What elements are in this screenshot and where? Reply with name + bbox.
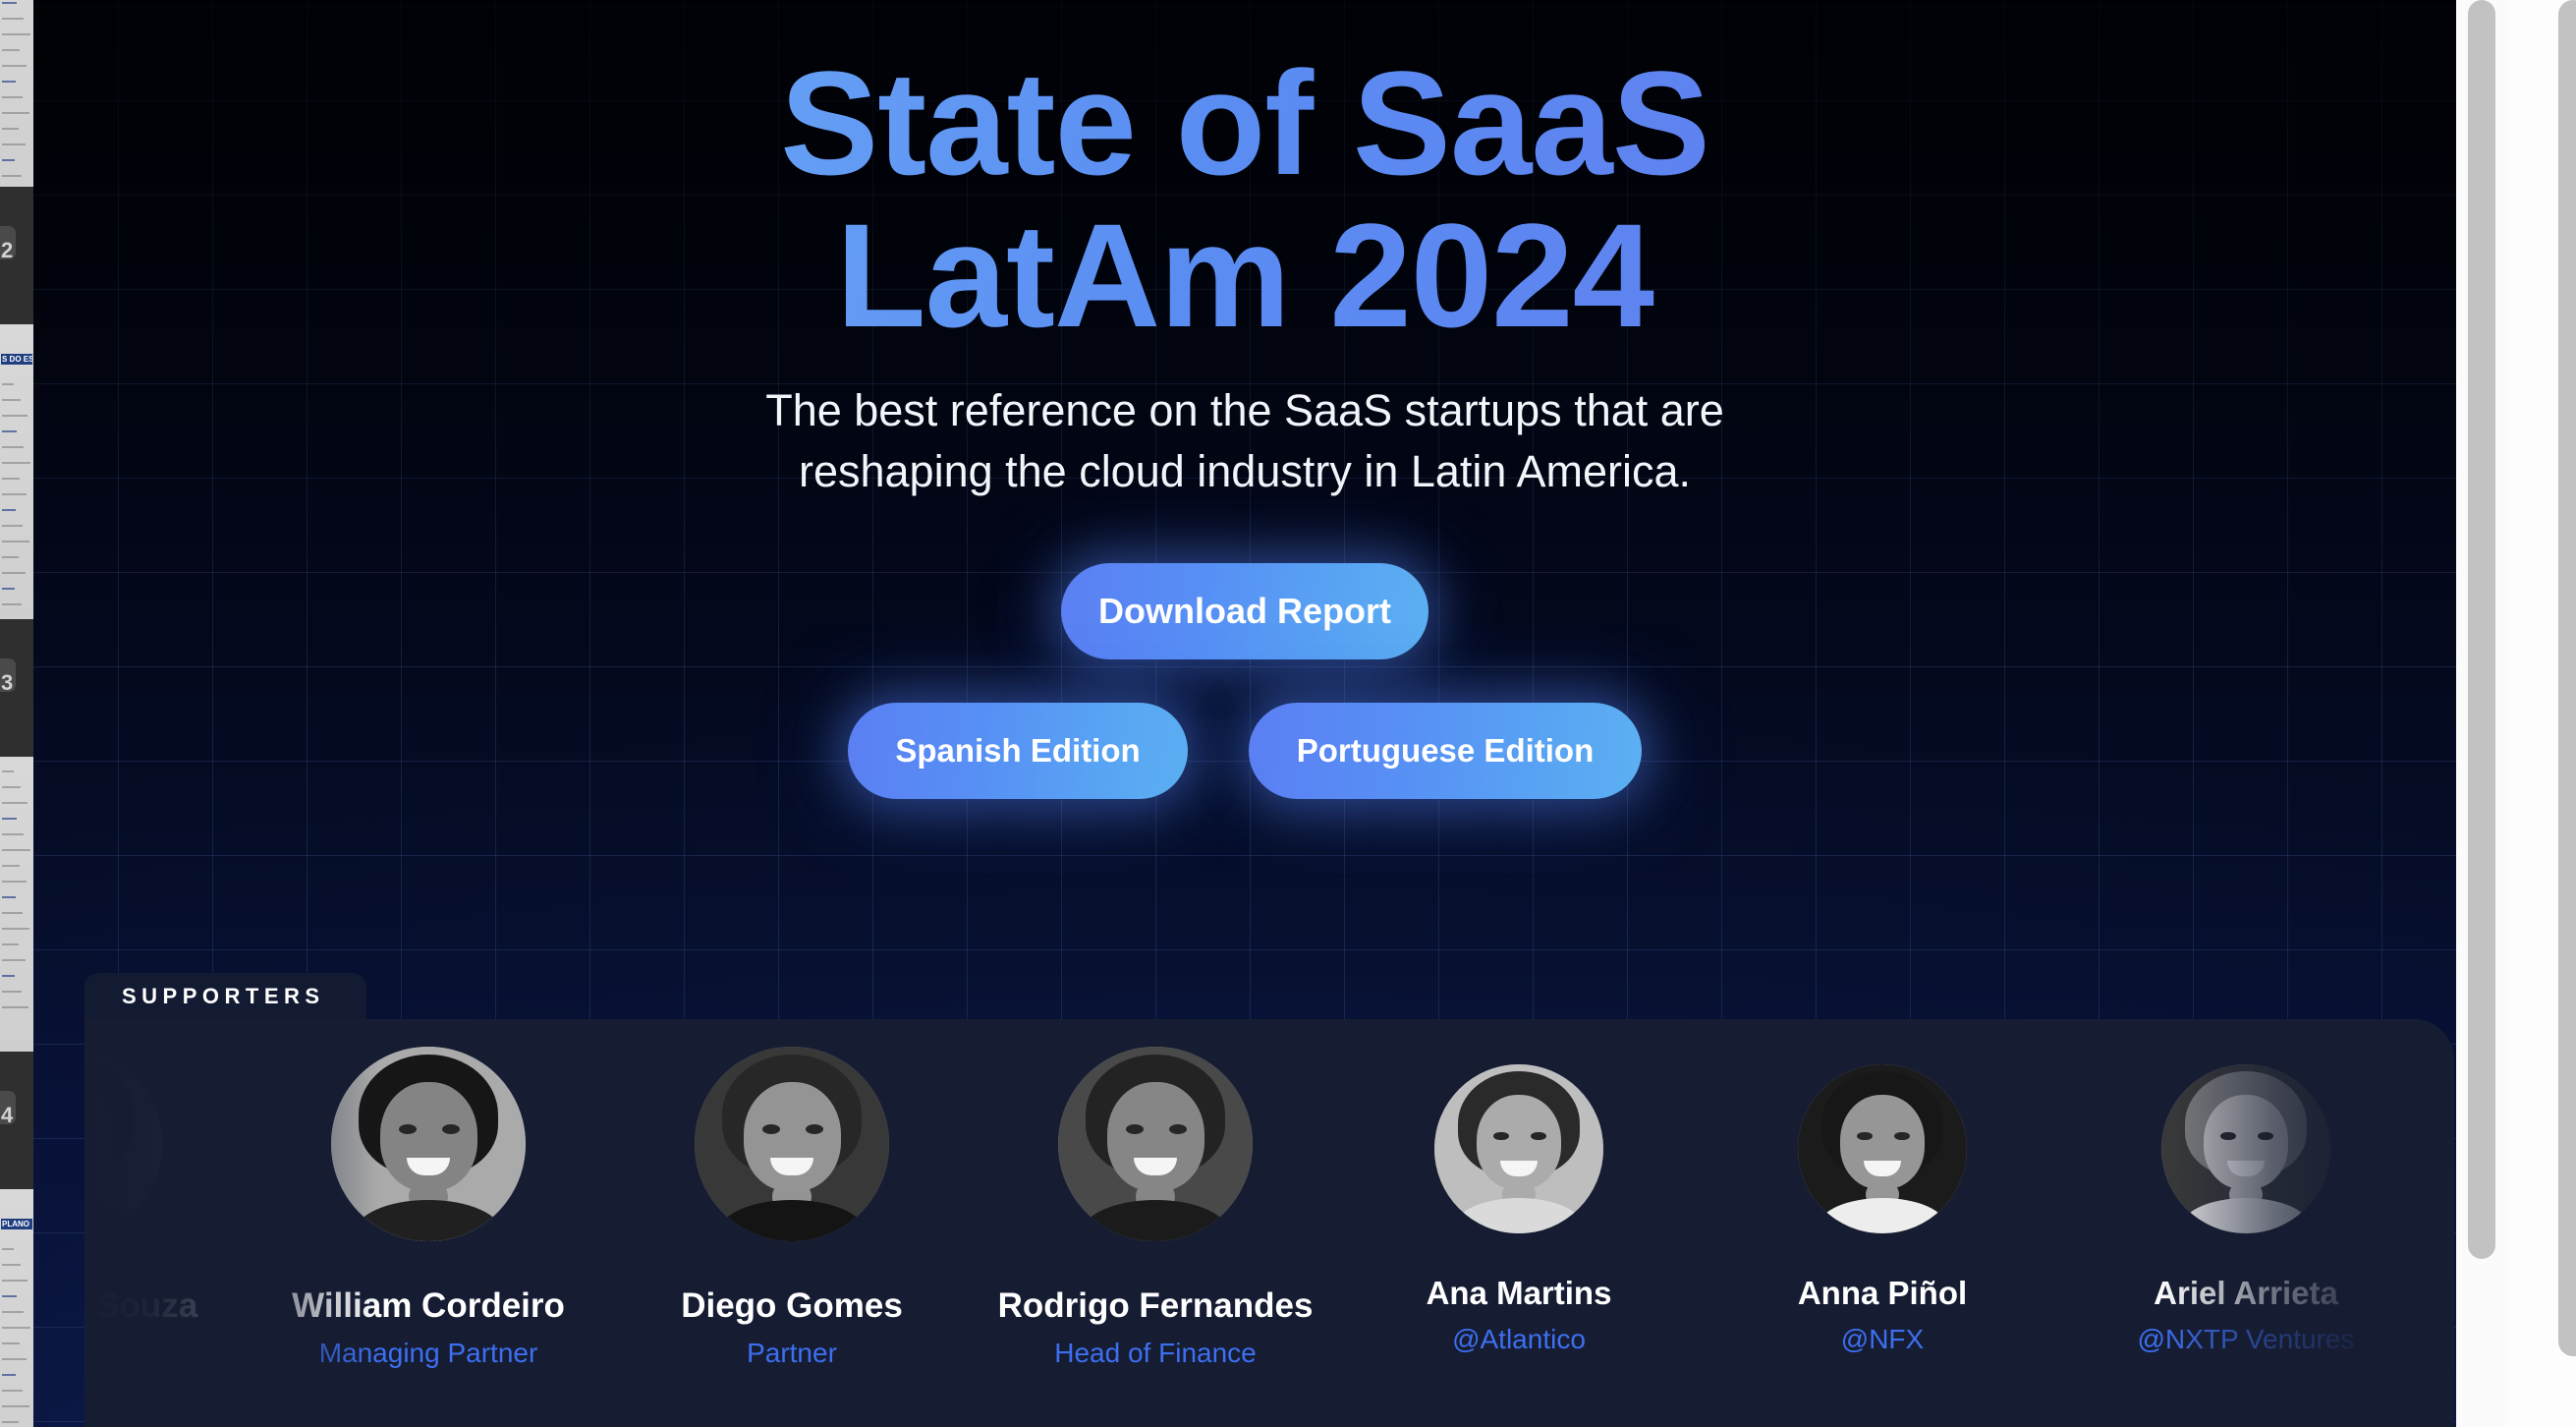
document-text-line — [2, 1421, 19, 1423]
document-text-line — [2, 588, 15, 590]
document-text-line — [2, 175, 22, 177]
supporter-name: Fernanda Souza — [84, 1286, 197, 1326]
hero-subtitle-line-2: reshaping the cloud industry in Latin Am… — [799, 446, 1691, 496]
document-text-line — [2, 2, 17, 4]
hero-subtitle-line-1: The best reference on the SaaS startups … — [765, 385, 1724, 435]
portrait-illustration — [695, 1047, 889, 1241]
document-text-line — [2, 1264, 21, 1266]
document-page-number: 4 — [1, 1103, 13, 1128]
document-text-line — [2, 159, 15, 161]
document-page-number: 2 — [1, 238, 13, 263]
document-text-line — [2, 912, 23, 914]
portrait-illustration — [1058, 1047, 1253, 1241]
document-text-line — [2, 33, 30, 35]
document-text-line — [2, 849, 30, 851]
document-text-line — [2, 1327, 30, 1329]
avatar — [1798, 1064, 1967, 1233]
supporter-name: Rodrigo Fernandes — [998, 1286, 1314, 1326]
document-page — [0, 757, 33, 1052]
avatar — [331, 1047, 526, 1241]
document-text-line — [2, 991, 22, 993]
supporter-card[interactable]: Anna Piñol@NFX — [1701, 1019, 2064, 1355]
window-scrollbar-thumb[interactable] — [2558, 0, 2576, 1356]
supporter-name: Ana Martins — [1427, 1275, 1612, 1312]
supporter-name: Anna Piñol — [1798, 1275, 1967, 1312]
document-text-line — [2, 430, 17, 432]
avatar — [1434, 1064, 1603, 1233]
supporter-card[interactable]: Rodrigo FernandesHead of Finance — [974, 1019, 1337, 1369]
cta-group: Download Report Spanish Edition Portugue… — [33, 563, 2456, 799]
portrait-illustration — [331, 1047, 526, 1241]
document-page-gap: 4 — [0, 1052, 33, 1189]
document-text-line — [2, 399, 21, 401]
supporter-card[interactable]: Ariel Arrieta@NXTP Ventures — [2064, 1019, 2428, 1355]
portrait-illustration — [84, 1047, 162, 1241]
document-text-line — [2, 881, 27, 883]
document-text-line — [2, 462, 30, 464]
document-text-line — [2, 1374, 16, 1376]
hero-title-line-2: LatAm 2024 — [836, 193, 1653, 358]
portuguese-edition-button[interactable]: Portuguese Edition — [1249, 703, 1642, 799]
supporters-panel: Fernanda SouzaPartnerWilliam CordeiroMan… — [84, 1019, 2454, 1427]
supporter-name: William Cordeiro — [292, 1286, 565, 1326]
document-page-gap: 3 — [0, 619, 33, 757]
document-text-line — [2, 112, 29, 114]
supporter-card[interactable]: Fernanda SouzaPartner — [84, 1019, 247, 1369]
document-text-line — [2, 786, 21, 788]
document-text-line — [2, 1390, 23, 1392]
supporters-carousel[interactable]: Fernanda SouzaPartnerWilliam CordeiroMan… — [84, 1019, 2454, 1427]
avatar — [695, 1047, 889, 1241]
supporter-card[interactable]: Diego GomesPartner — [610, 1019, 974, 1369]
document-section-header: PLANO — [1, 1219, 32, 1229]
document-page-gap: 2 — [0, 187, 33, 324]
document-text-line — [2, 383, 14, 385]
document-text-line — [2, 802, 28, 804]
supporter-role: @NXTP Ventures — [2138, 1324, 2355, 1355]
document-text-line — [2, 96, 23, 98]
landing-page: State of SaaS LatAm 2024 The best refere… — [33, 0, 2456, 1427]
document-text-line — [2, 49, 20, 51]
document-text-line — [2, 65, 27, 67]
document-text-line — [2, 896, 16, 898]
download-report-button[interactable]: Download Report — [1061, 563, 1428, 659]
document-text-line — [2, 1405, 29, 1407]
hero-title-line-1: State of SaaS — [780, 40, 1709, 205]
document-text-line — [2, 509, 16, 511]
document-text-line — [2, 493, 27, 495]
document-text-line — [2, 1295, 17, 1297]
supporter-card[interactable]: Ana Martins@Atlantico — [1337, 1019, 1701, 1355]
document-text-line — [2, 959, 26, 961]
document-text-line — [2, 1006, 28, 1008]
document-text-line — [2, 18, 24, 20]
document-text-line — [2, 415, 28, 417]
page-scrollbar-track[interactable] — [2456, 0, 2507, 1427]
document-text-line — [2, 975, 15, 977]
document-page — [0, 0, 33, 187]
supporter-name: Diego Gomes — [681, 1286, 903, 1326]
document-text-line — [2, 1311, 24, 1313]
supporter-role: @Atlantico — [1452, 1324, 1586, 1355]
document-text-line — [2, 1358, 27, 1360]
supporter-card[interactable]: William CordeiroManaging Partner — [247, 1019, 610, 1369]
document-text-line — [2, 943, 19, 945]
document-section-header: S DO ESTR — [1, 354, 32, 365]
document-text-line — [2, 771, 14, 772]
page-title: State of SaaS LatAm 2024 — [33, 47, 2456, 351]
avatar — [84, 1047, 162, 1241]
document-text-line — [2, 1280, 28, 1282]
avatar — [1058, 1047, 1253, 1241]
document-text-line — [2, 81, 16, 83]
supporter-role: Partner — [747, 1338, 837, 1369]
portrait-illustration — [1798, 1064, 1967, 1233]
portrait-illustration — [1434, 1064, 1603, 1233]
document-text-line — [2, 446, 24, 448]
supporter-role: Managing Partner — [319, 1338, 538, 1369]
supporter-card[interactable]: Brian Requarth@Latitud — [2428, 1019, 2454, 1355]
supporter-name: Ariel Arrieta — [2154, 1275, 2338, 1312]
document-text-line — [2, 572, 26, 574]
document-text-line — [2, 556, 19, 558]
document-text-line — [2, 525, 23, 527]
hero-section: State of SaaS LatAm 2024 The best refere… — [33, 0, 2456, 799]
document-text-line — [2, 128, 19, 130]
document-text-line — [2, 865, 20, 867]
hero-subtitle: The best reference on the SaaS startups … — [33, 380, 2456, 502]
page-scrollbar-thumb[interactable] — [2468, 0, 2495, 1259]
document-page-number: 3 — [1, 670, 13, 696]
spanish-edition-button[interactable]: Spanish Edition — [848, 703, 1188, 799]
background-document-window[interactable]: 2S DO ESTR34PLANO5 — [0, 0, 33, 1427]
edition-button-row: Spanish Edition Portuguese Edition — [848, 703, 1642, 799]
document-text-line — [2, 818, 17, 820]
portrait-illustration — [2161, 1064, 2330, 1233]
document-text-line — [2, 1342, 20, 1344]
document-text-line — [2, 1248, 14, 1250]
document-text-line — [2, 928, 29, 930]
supporter-role: Head of Finance — [1054, 1338, 1256, 1369]
supporter-role: @NFX — [1841, 1324, 1924, 1355]
document-text-line — [2, 603, 22, 605]
supporters-tab-label: SUPPORTERS — [84, 973, 366, 1019]
document-page: PLANO — [0, 1189, 33, 1427]
document-text-line — [2, 478, 20, 480]
browser-viewport: State of SaaS LatAm 2024 The best refere… — [33, 0, 2576, 1427]
document-page: S DO ESTR — [0, 324, 33, 619]
document-text-line — [2, 833, 24, 835]
avatar — [2161, 1064, 2330, 1233]
supporter-role: Partner — [84, 1338, 110, 1369]
document-text-line — [2, 143, 26, 145]
document-text-line — [2, 541, 29, 542]
